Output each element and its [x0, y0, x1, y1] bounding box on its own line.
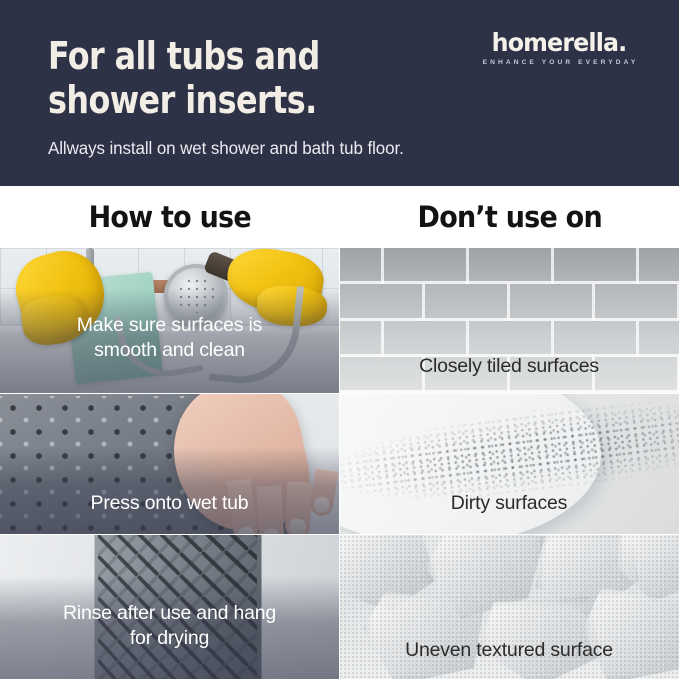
caption-how-to-use-step-3: Rinse after use and hang for drying	[0, 601, 339, 651]
column-divider	[339, 394, 340, 534]
caption-dont-use-on-step-1: Closely tiled surfaces	[339, 354, 679, 379]
cell-dont-use-on-step-1: Closely tiled surfaces	[339, 248, 679, 393]
column-divider	[339, 248, 340, 393]
caption-line-1: Uneven textured surface	[339, 638, 679, 663]
cell-how-to-use-step-1: Make sure surfaces is smooth and clean	[0, 248, 339, 393]
grid-row: Rinse after use and hang for drying Unev…	[0, 535, 679, 679]
comparison-grid: Make sure surfaces is smooth and clean C…	[0, 248, 679, 679]
logo-wordmark: homerella.	[483, 30, 635, 56]
caption-how-to-use-step-2: Press onto wet tub	[0, 491, 339, 516]
caption-dont-use-on-step-3: Uneven textured surface	[339, 638, 679, 663]
headline-line-1: For all tubs and	[48, 34, 320, 78]
logo-tagline: ENHANCE YOUR EVERYDAY	[479, 59, 639, 66]
brand-logo: homerella. ENHANCE YOUR EVERYDAY	[479, 30, 639, 66]
caption-line-2: smooth and clean	[0, 338, 339, 363]
page-subtitle: Allways install on wet shower and bath t…	[48, 136, 621, 160]
column-headers: How to use Don’t use on	[0, 186, 679, 248]
cell-dont-use-on-step-2: Dirty surfaces	[339, 394, 679, 534]
tile-row	[339, 284, 679, 320]
grid-row: Make sure surfaces is smooth and clean C…	[0, 248, 679, 393]
column-title-how-to-use: How to use	[12, 186, 328, 248]
product-infographic: For all tubs and shower inserts. Allways…	[0, 0, 679, 679]
column-divider	[339, 535, 340, 679]
cell-dont-use-on-step-3: Uneven textured surface	[339, 535, 679, 679]
caption-how-to-use-step-1: Make sure surfaces is smooth and clean	[0, 313, 339, 363]
header-banner: For all tubs and shower inserts. Allways…	[0, 0, 679, 186]
caption-line-1: Dirty surfaces	[339, 491, 679, 516]
page-title: For all tubs and shower inserts.	[48, 34, 355, 122]
headline-line-2: shower inserts.	[48, 78, 317, 122]
grid-row: Press onto wet tub Dirty surfaces	[0, 394, 679, 534]
caption-dont-use-on-step-2: Dirty surfaces	[339, 491, 679, 516]
column-title-dont-use-on: Don’t use on	[351, 186, 667, 248]
tile-row	[339, 248, 679, 284]
cell-how-to-use-step-3: Rinse after use and hang for drying	[0, 535, 339, 679]
caption-line-1: Press onto wet tub	[0, 491, 339, 516]
caption-line-1: Make sure surfaces is	[0, 313, 339, 338]
caption-line-1: Rinse after use and hang	[0, 601, 339, 626]
caption-line-2: for drying	[0, 626, 339, 651]
caption-line-1: Closely tiled surfaces	[339, 354, 679, 379]
tile-row	[339, 321, 679, 357]
cell-how-to-use-step-2: Press onto wet tub	[0, 394, 339, 534]
